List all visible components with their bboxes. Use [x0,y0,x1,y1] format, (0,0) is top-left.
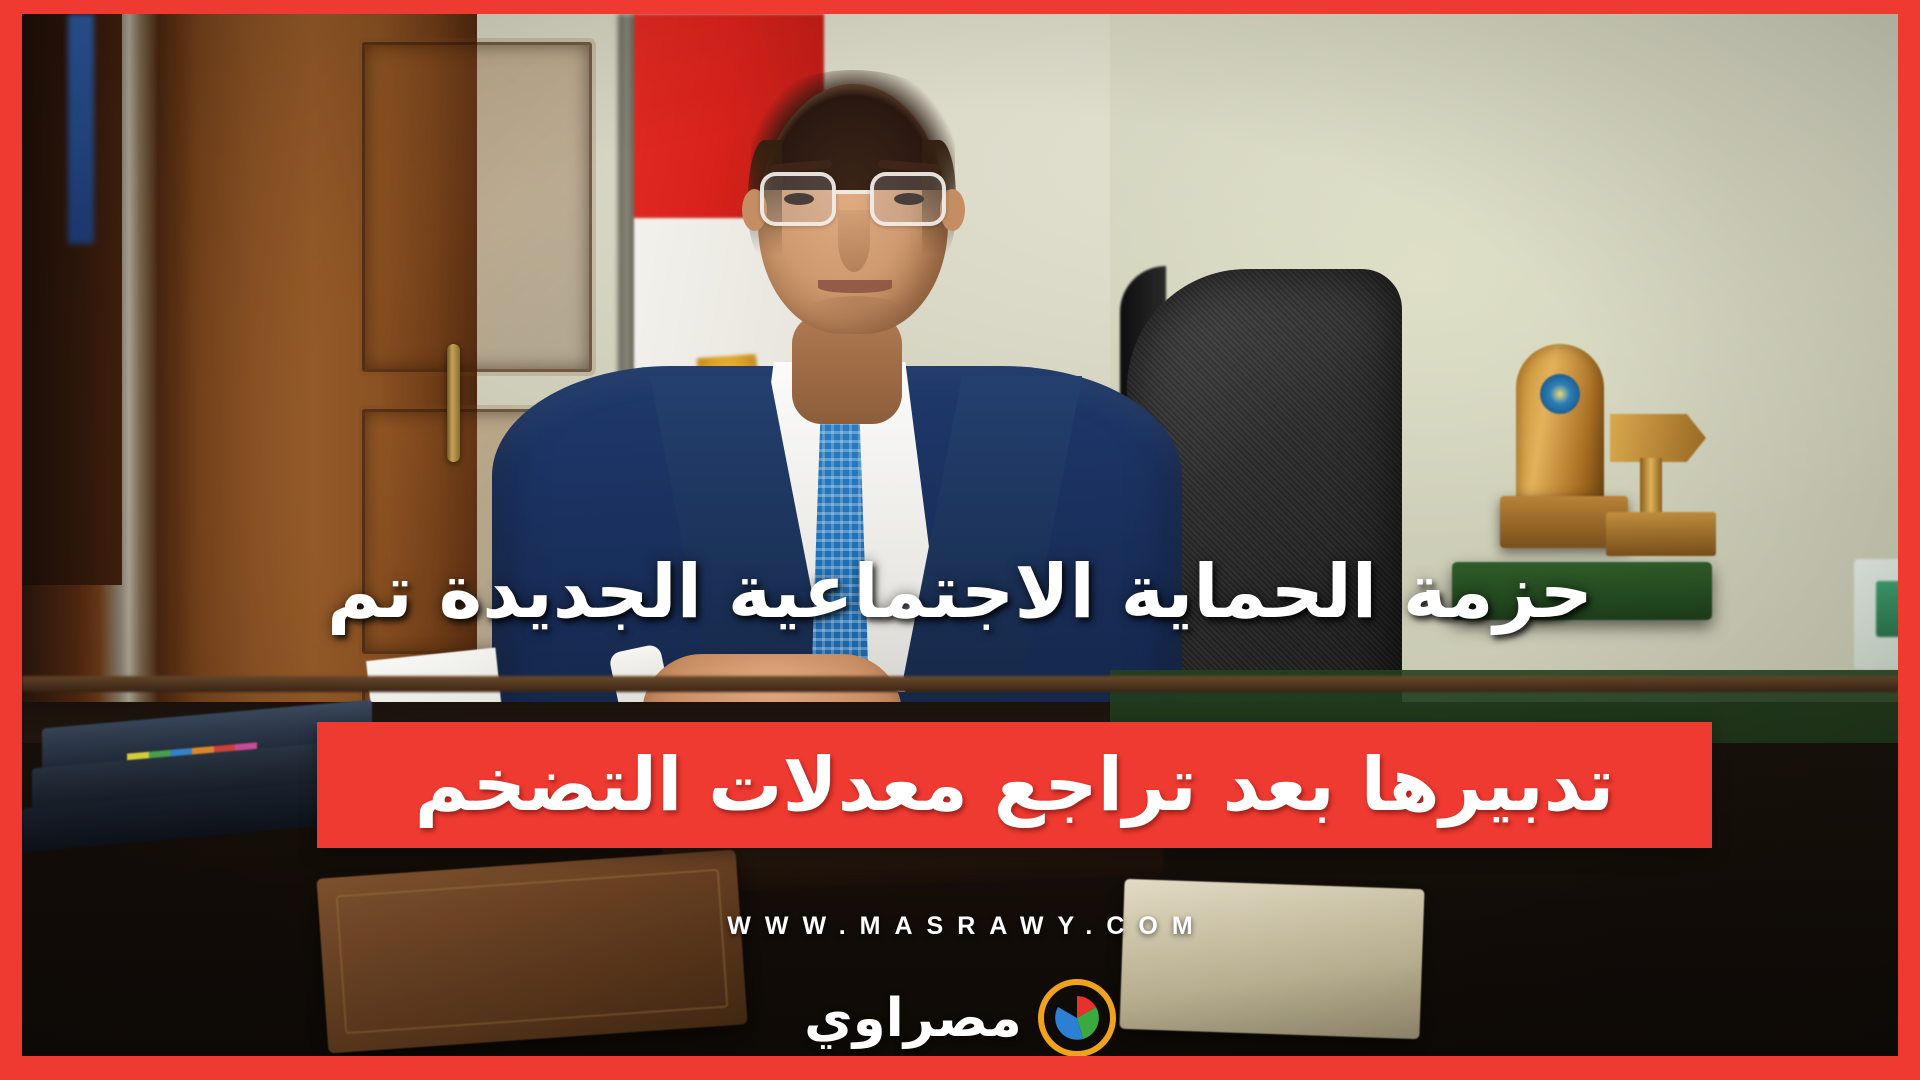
article-photo: حزمة الحماية الاجتماعية الجديدة تم تدبير… [22,14,1898,1056]
chin [804,296,908,330]
glasses-bridge [836,190,872,194]
lens-left [760,172,836,226]
lens-right [870,172,946,226]
news-card: حزمة الحماية الاجتماعية الجديدة تم تدبير… [0,0,1920,1080]
headline-line-2: تدبيرها بعد تراجع معدلات التضخم [415,748,1615,822]
headline-line-1: حزمة الحماية الاجتماعية الجديدة تم [22,550,1898,634]
site-url: WWW.MASRAWY.COM [22,912,1898,941]
nose [838,210,870,272]
headline-band: تدبيرها بعد تراجع معدلات التضخم [317,722,1712,848]
mouth [818,280,892,293]
masrawy-mark-icon [1038,979,1116,1056]
masrawy-logo[interactable]: مصراوي [22,979,1898,1056]
masrawy-wordmark: مصراوي [804,992,1022,1045]
desk-edge [22,676,1898,692]
